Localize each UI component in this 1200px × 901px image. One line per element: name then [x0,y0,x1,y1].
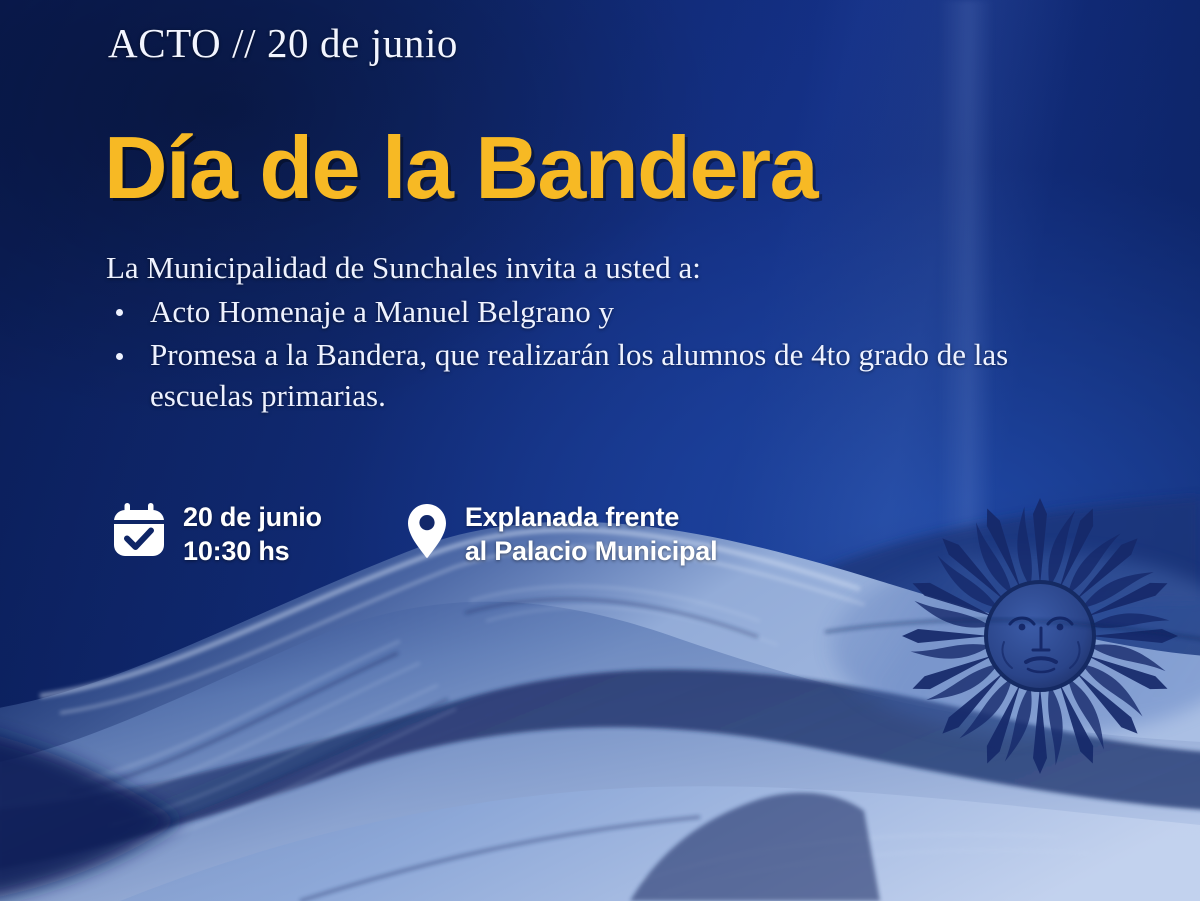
event-place-text: Explanada frente al Palacio Municipal [465,500,718,568]
event-place-line1: Explanada frente [465,502,679,532]
invitation-body: La Municipalidad de Sunchales invita a u… [106,248,1066,416]
event-date-line1: 20 de junio [183,502,322,532]
event-place-block: Explanada frente al Palacio Municipal [406,500,718,568]
event-date-text: 20 de junio 10:30 hs [183,500,322,568]
calendar-check-icon [112,502,166,563]
list-item-label: Acto Homenaje a Manuel Belgrano y [150,294,614,329]
invitation-lead: La Municipalidad de Sunchales invita a u… [106,248,1066,289]
event-details-row: 20 de junio 10:30 hs Explanada frente al… [112,500,717,568]
event-place-line2: al Palacio Municipal [465,536,718,566]
list-item: Acto Homenaje a Manuel Belgrano y [106,292,1066,333]
bullet-dot-icon [116,353,123,360]
page-title: Día de la Bandera [104,124,817,212]
location-pin-icon [406,502,448,565]
poster-canvas: ACTO // 20 de junio Día de la Bandera La… [0,0,1200,901]
invitation-bullet-list: Acto Homenaje a Manuel Belgrano y Promes… [106,292,1066,417]
list-item-label: Promesa a la Bandera, que realizarán los… [150,337,1008,413]
kicker-text: ACTO // 20 de junio [108,20,458,67]
event-date-line2: 10:30 hs [183,536,289,566]
bullet-dot-icon [116,309,123,316]
list-item: Promesa a la Bandera, que realizarán los… [106,335,1066,416]
event-date-block: 20 de junio 10:30 hs [112,500,322,568]
